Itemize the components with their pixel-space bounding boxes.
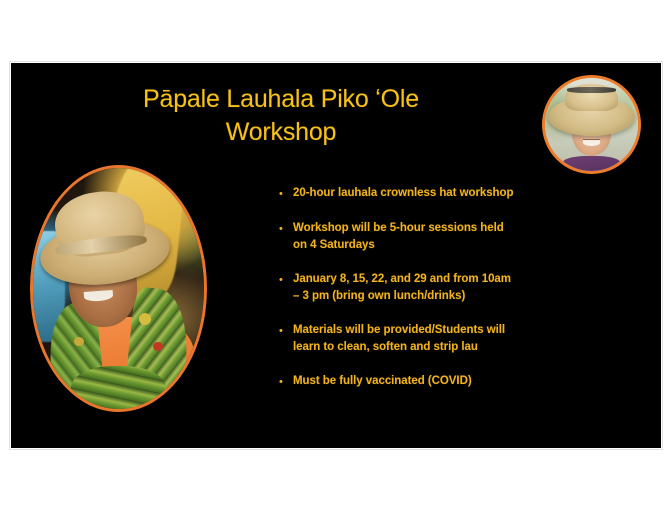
list-item-line-1: January 8, 15, 22, and 29 and from 10am	[293, 273, 511, 285]
woven-hat-band	[567, 87, 615, 93]
list-item-line-1: Workshop will be 5-hour sessions held	[293, 222, 504, 234]
bullet-dot-icon: •	[279, 185, 293, 202]
bullet-dot-icon: •	[279, 373, 293, 390]
list-item-line-2: learn to clean, soften and strip lau	[293, 339, 635, 356]
list-item-text: Workshop will be 5-hour sessions held on…	[293, 220, 635, 253]
list-item-line-2: – 3 pm (bring own lunch/drinks)	[293, 288, 635, 305]
slide-page: Pāpale Lauhala Piko ʻOle Workshop	[0, 0, 672, 510]
list-item-text: January 8, 15, 22, and 29 and from 10am …	[293, 271, 635, 304]
list-item-line-2: on 4 Saturdays	[293, 237, 635, 254]
lei-berry	[139, 313, 151, 325]
list-item-line-1: Must be fully vaccinated (COVID)	[293, 375, 472, 387]
instructor-portrait-oval	[30, 165, 207, 412]
bullet-dot-icon: •	[279, 322, 293, 339]
title-line-2: Workshop	[71, 116, 491, 149]
purple-shirt	[562, 156, 622, 174]
list-item-line-1: Materials will be provided/Students will	[293, 324, 505, 336]
smile	[583, 139, 600, 146]
list-item-text: 20-hour lauhala crownless hat workshop	[293, 185, 635, 202]
list-item: • Materials will be provided/Students wi…	[279, 322, 635, 355]
bullet-dot-icon: •	[279, 220, 293, 237]
lei-bottom-strand	[71, 366, 167, 412]
list-item: • Workshop will be 5-hour sessions held …	[279, 220, 635, 253]
oval-photo-scene	[33, 168, 204, 409]
list-item: • January 8, 15, 22, and 29 and from 10a…	[279, 271, 635, 304]
list-item-line-1: 20-hour lauhala crownless hat workshop	[293, 187, 514, 199]
list-item-text: Must be fully vaccinated (COVID)	[293, 373, 635, 390]
instructor-portrait-circle	[542, 75, 641, 174]
lei-berry	[153, 342, 163, 352]
list-item: • Must be fully vaccinated (COVID)	[279, 373, 635, 390]
list-item-text: Materials will be provided/Students will…	[293, 322, 635, 355]
list-item: • 20-hour lauhala crownless hat workshop	[279, 185, 635, 202]
title-line-1: Pāpale Lauhala Piko ʻOle	[143, 85, 419, 113]
slide-canvas: Pāpale Lauhala Piko ʻOle Workshop	[11, 63, 661, 448]
page-title: Pāpale Lauhala Piko ʻOle Workshop	[71, 83, 491, 148]
bullet-list: • 20-hour lauhala crownless hat workshop…	[279, 185, 635, 390]
bullet-dot-icon: •	[279, 271, 293, 288]
